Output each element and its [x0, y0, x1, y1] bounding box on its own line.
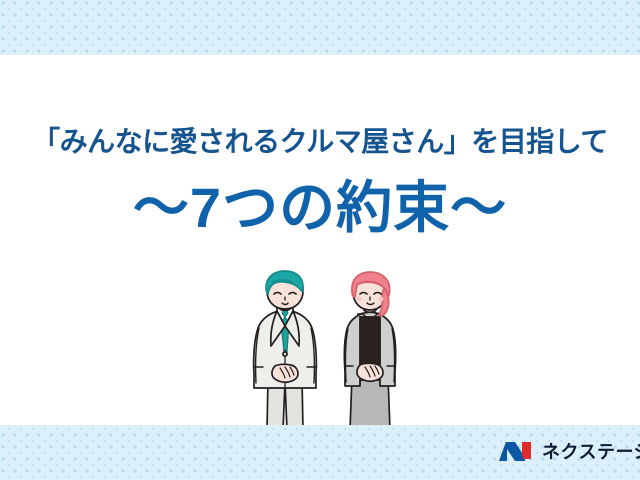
headline-main-title: 〜7つの約束〜: [0, 180, 640, 236]
male-staff-figure: [254, 271, 317, 425]
female-staff-figure: [344, 272, 395, 425]
nextstage-n-mark-icon: [498, 439, 534, 465]
nextstage-logo: ネクステージ: [498, 437, 640, 467]
n-mark-svg: [498, 439, 534, 465]
female-clasped-hands: [357, 363, 383, 381]
staff-illustration-svg: [240, 270, 420, 425]
nextstage-wordmark: ネクステージ: [542, 443, 640, 461]
two-bowing-staff-illustration: [240, 270, 420, 425]
slide-canvas: 「みんなに愛されるクルマ屋さん」を目指して 〜7つの約束〜: [0, 0, 640, 480]
headline-subtitle: 「みんなに愛されるクルマ屋さん」を目指して: [0, 128, 640, 156]
white-content-panel: 「みんなに愛されるクルマ屋さん」を目指して 〜7つの約束〜: [0, 55, 640, 425]
male-clasped-hands: [272, 364, 298, 382]
